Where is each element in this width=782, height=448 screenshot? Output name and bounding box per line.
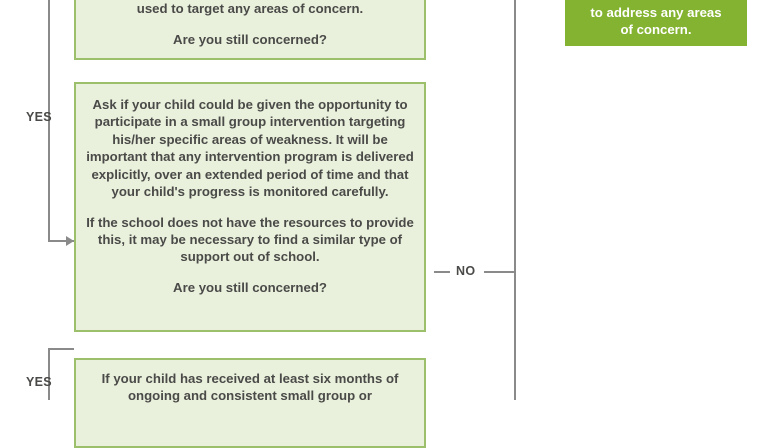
flow-box-top-line-2: Are you still concerned? xyxy=(86,31,414,48)
flow-box-bottom[interactable]: If your child has received at least six … xyxy=(74,358,426,448)
flow-box-middle-para-3: Are you still concerned? xyxy=(86,279,414,296)
connector-no-right xyxy=(484,271,514,273)
flow-box-top-line-1: used to target any areas of concern. xyxy=(86,0,414,17)
green-outcome-box[interactable]: to address any areas of concern. xyxy=(565,0,747,46)
arrowhead-upper xyxy=(66,236,74,246)
flowchart-canvas: YES YES NO used to target any areas of c… xyxy=(0,0,782,400)
connector-left-spine-lower xyxy=(48,348,50,400)
branch-label-yes-upper: YES xyxy=(26,110,52,124)
flow-box-middle-para-2: If the school does not have the resource… xyxy=(86,214,414,266)
flow-box-middle-para-1: Ask if your child could be given the opp… xyxy=(86,96,414,201)
green-outcome-line-1: to address any areas xyxy=(575,4,737,21)
branch-label-yes-lower: YES xyxy=(26,375,52,389)
connector-left-stub-lower xyxy=(48,348,74,350)
branch-label-no: NO xyxy=(456,264,475,278)
flow-box-middle[interactable]: Ask if your child could be given the opp… xyxy=(74,82,426,332)
connector-right-spine xyxy=(514,0,516,400)
flow-box-top[interactable]: used to target any areas of concern. Are… xyxy=(74,0,426,60)
connector-no-left xyxy=(434,271,450,273)
green-outcome-line-2: of concern. xyxy=(575,21,737,38)
